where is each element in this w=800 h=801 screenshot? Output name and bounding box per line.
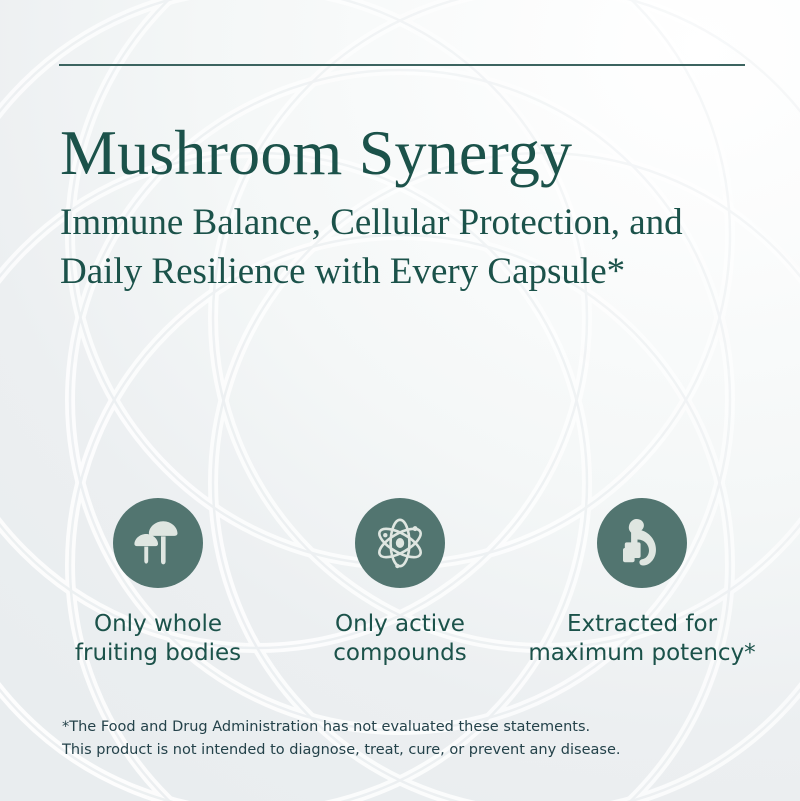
feature-badge xyxy=(113,498,203,588)
feature-badge xyxy=(355,498,445,588)
feature-label: Only active compounds xyxy=(333,610,467,668)
product-subtitle: Immune Balance, Cellular Protection, and… xyxy=(60,199,700,297)
feature-item-maximum-potency: Extracted for maximum potency* xyxy=(524,498,760,668)
product-banner: Mushroom Synergy Immune Balance, Cellula… xyxy=(0,0,800,801)
feature-list: Only whole fruiting bodies xyxy=(40,498,760,668)
fda-disclaimer: *The Food and Drug Administration has no… xyxy=(62,716,762,763)
top-divider-rule xyxy=(59,64,745,66)
mushrooms-icon xyxy=(130,515,186,571)
feature-label: Only whole fruiting bodies xyxy=(75,610,241,668)
feature-label: Extracted for maximum potency* xyxy=(528,610,755,668)
feature-badge xyxy=(597,498,687,588)
flexed-bicep-icon xyxy=(615,516,669,570)
headline-block: Mushroom Synergy Immune Balance, Cellula… xyxy=(60,120,760,297)
feature-item-whole-fruiting-bodies: Only whole fruiting bodies xyxy=(40,498,276,668)
feature-item-active-compounds: Only active compounds xyxy=(282,498,518,668)
product-title: Mushroom Synergy xyxy=(60,120,760,185)
atom-icon xyxy=(372,515,428,571)
